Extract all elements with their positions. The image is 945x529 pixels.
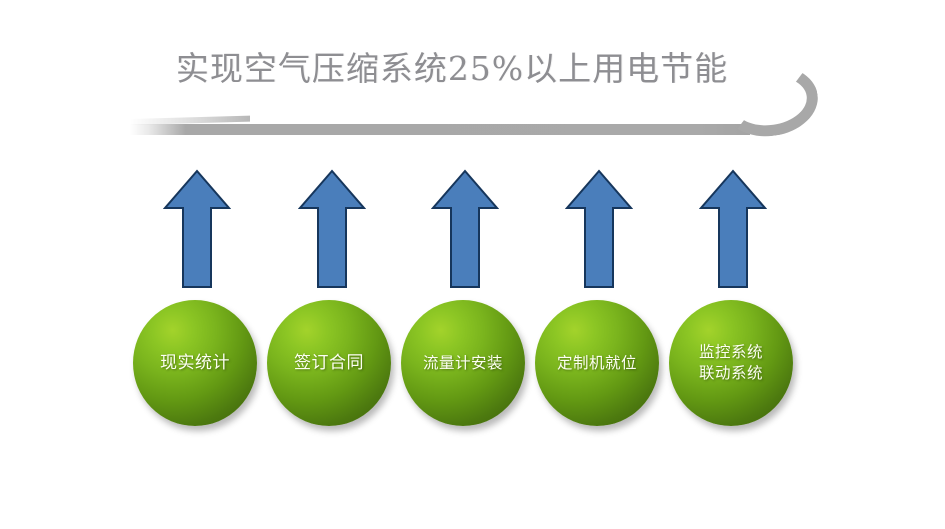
step-label-4: 定制机就位 bbox=[553, 353, 641, 374]
page-title: 实现空气压缩系统25%以上用电节能 bbox=[152, 46, 752, 92]
step-circle-5[interactable]: 监控系统 联动系统 bbox=[669, 300, 793, 426]
step-label-2: 签订合同 bbox=[290, 352, 368, 374]
step-circle-3[interactable]: 流量计安装 bbox=[401, 300, 525, 426]
step-circle-row: 现实统计 签订合同 流量计安装 定制机就位 监控系统 联动系统 bbox=[0, 300, 945, 440]
slide-canvas: 实现空气压缩系统25%以上用电节能 bbox=[0, 0, 945, 529]
up-arrow-icon-5 bbox=[699, 168, 767, 290]
up-arrow-icon-2 bbox=[298, 168, 366, 290]
title-swoosh-bar bbox=[130, 124, 750, 135]
step-circle-1[interactable]: 现实统计 bbox=[133, 300, 257, 426]
step-circle-4[interactable]: 定制机就位 bbox=[535, 300, 659, 426]
step-label-3: 流量计安装 bbox=[419, 353, 507, 374]
up-arrow-icon-4 bbox=[565, 168, 633, 290]
title-banner: 实现空气压缩系统25%以上用电节能 bbox=[122, 38, 802, 148]
arrow-row bbox=[0, 168, 945, 293]
step-label-1: 现实统计 bbox=[156, 352, 234, 374]
step-label-5: 监控系统 联动系统 bbox=[695, 342, 767, 384]
up-arrow-icon-3 bbox=[431, 168, 499, 290]
up-arrow-icon-1 bbox=[163, 168, 231, 290]
step-circle-2[interactable]: 签订合同 bbox=[267, 300, 391, 426]
